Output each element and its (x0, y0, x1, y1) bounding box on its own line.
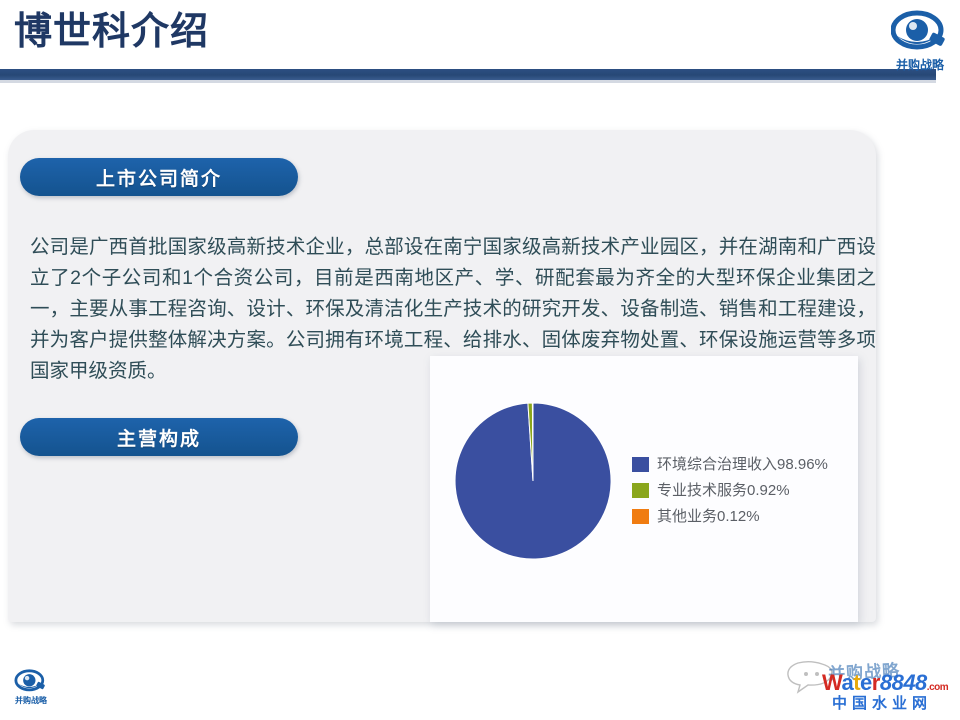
watermark: 并购战略 Water8848.com 中国水业网 (784, 658, 960, 714)
watermark-brand: Water8848.com (822, 672, 948, 694)
brand-logo-header: 并购战略 (888, 8, 952, 72)
pie-chart (454, 402, 612, 560)
eye-magnifier-icon (14, 668, 48, 696)
chart-legend: 环境综合治理收入98.96% 专业技术服务0.92% 其他业务0.12% (632, 452, 828, 530)
header-divider-shadow (0, 80, 936, 83)
legend-label-2: 其他业务0.12% (657, 509, 760, 524)
brand-number: 8848 (880, 670, 927, 695)
page-title: 博世科介绍 (14, 12, 209, 54)
legend-swatch-2 (632, 509, 649, 524)
legend-label-1: 专业技术服务0.92% (657, 483, 790, 498)
pie-slice-2 (532, 403, 533, 481)
pie-chart-svg (454, 402, 612, 560)
brand-letter-4: r (872, 670, 880, 695)
legend-swatch-0 (632, 457, 649, 472)
slide-canvas: 博世科介绍 并购战略 上市公司简介 公司是广西首批国家级高新技术企业，总部设在南… (0, 0, 960, 720)
brand-logo-footer: 并购战略 (10, 668, 52, 706)
brand-letter-1: a (841, 670, 853, 695)
brand-letter-3: e (860, 670, 872, 695)
brand-letter-0: W (822, 670, 841, 695)
pie-slices (455, 403, 611, 559)
legend-item: 专业技术服务0.92% (632, 478, 828, 502)
section-heading-business: 主营构成 (20, 418, 298, 456)
brand-logo-caption: 并购战略 (10, 697, 52, 706)
slide-header: 博世科介绍 (0, 0, 960, 100)
brand-tld: .com (927, 682, 948, 693)
legend-item: 环境综合治理收入98.96% (632, 452, 828, 476)
chart-card: 环境综合治理收入98.96% 专业技术服务0.92% 其他业务0.12% (430, 356, 858, 622)
brand-letter-2: t (853, 670, 860, 695)
legend-label-0: 环境综合治理收入98.96% (657, 457, 828, 472)
section-heading-intro: 上市公司简介 (20, 158, 298, 196)
eye-magnifier-icon (891, 8, 949, 58)
watermark-site-name: 中国水业网 (832, 696, 932, 711)
header-divider-bar (0, 69, 936, 80)
legend-swatch-1 (632, 483, 649, 498)
brand-logo-caption: 并购战略 (888, 59, 952, 72)
legend-item: 其他业务0.12% (632, 504, 828, 528)
